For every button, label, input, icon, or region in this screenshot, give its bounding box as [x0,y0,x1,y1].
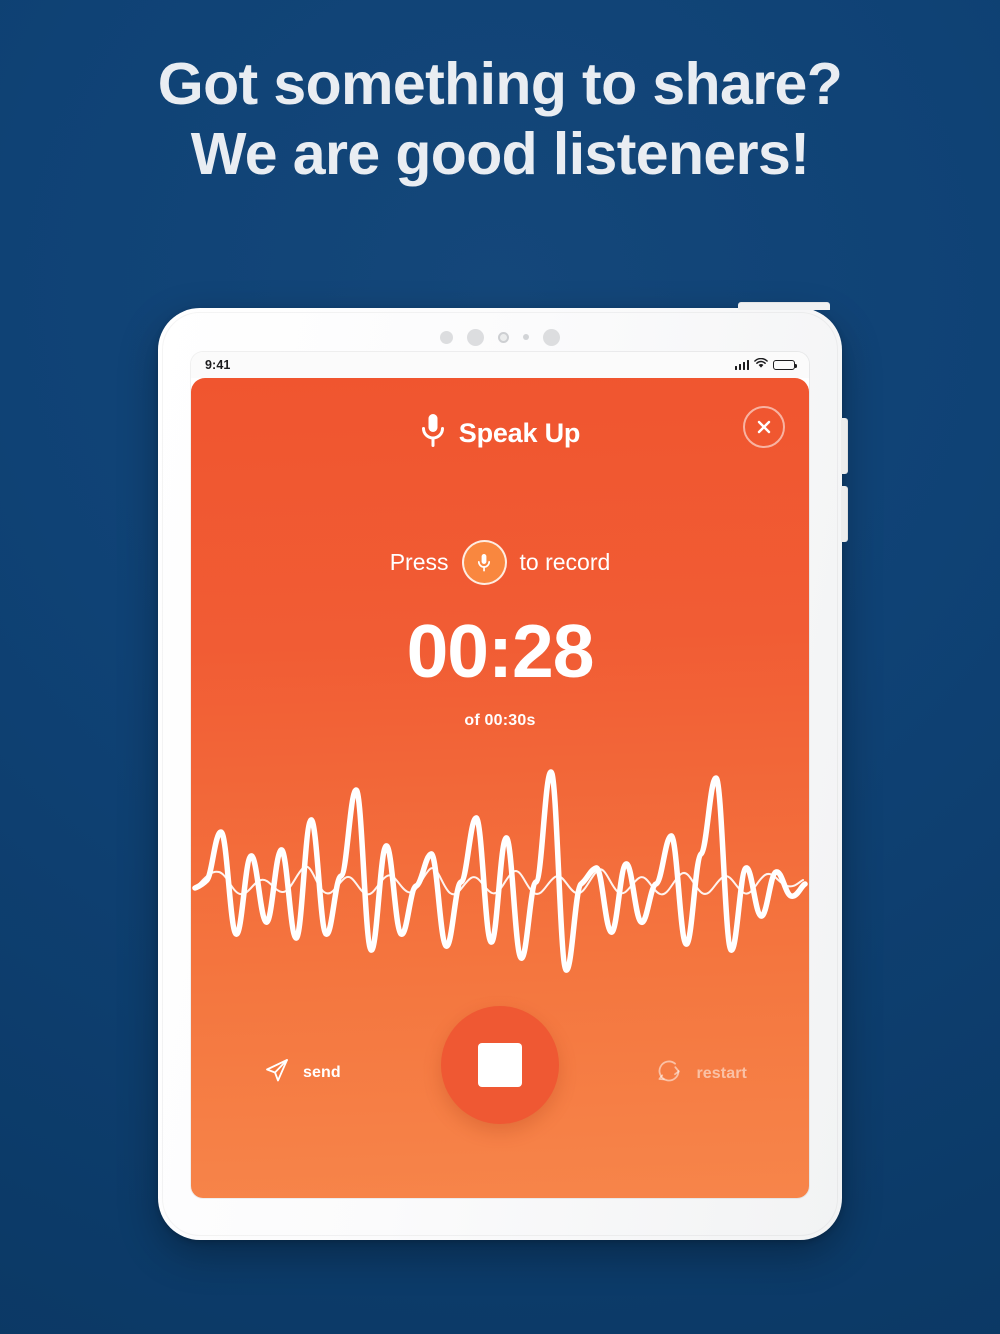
sensor-dot-1 [440,331,453,344]
close-button[interactable] [743,406,785,448]
stop-recording-button[interactable] [441,1006,559,1124]
status-bar: 9:41 [191,352,809,378]
status-bar-icons [735,356,796,374]
restart-button-label: restart [696,1065,747,1083]
prompt-suffix-label: to record [520,549,611,576]
tablet-device-mockup: 9:41 [158,308,842,1240]
power-button[interactable] [738,302,830,310]
headline-line-2: We are good listeners! [0,120,1000,190]
recording-elapsed-time: 00:28 [191,614,809,689]
sensor-dot-2 [467,329,484,346]
stop-square-icon [478,1043,522,1087]
app-title: Speak Up [459,418,580,449]
microphone-icon [420,413,446,454]
speak-up-app-surface: Speak Up Press to record [191,378,809,1198]
front-camera-lens-icon [498,332,509,343]
restart-button[interactable]: restart [654,1056,747,1091]
close-x-icon [755,418,773,436]
front-camera-sensor-array [158,324,842,350]
volume-up-button[interactable] [841,418,848,474]
waveform-primary-trace [195,772,805,970]
cellular-signal-icon [735,360,750,370]
recording-total-time-label: of 00:30s [191,712,809,730]
headline-line-1: Got something to share? [0,50,1000,120]
volume-down-button[interactable] [841,486,848,542]
refresh-circular-arrow-icon [654,1056,684,1091]
send-button[interactable]: send [263,1056,341,1089]
inline-record-mic-button[interactable] [462,540,507,585]
paper-plane-icon [263,1056,291,1089]
press-to-record-prompt: Press to record [191,540,809,585]
send-button-label: send [303,1064,341,1082]
microphone-icon [477,553,491,573]
sensor-dot-4 [523,334,529,340]
app-header: Speak Up [191,408,809,458]
device-screen: 9:41 [191,352,809,1198]
audio-waveform-visualizer [191,758,809,988]
battery-full-icon [773,360,795,371]
recorder-controls: send restart [191,1006,809,1146]
page-headline: Got something to share? We are good list… [0,50,1000,189]
prompt-prefix-label: Press [390,549,449,576]
wifi-icon [754,356,768,374]
sensor-dot-5 [543,329,560,346]
status-bar-time: 9:41 [205,358,230,372]
